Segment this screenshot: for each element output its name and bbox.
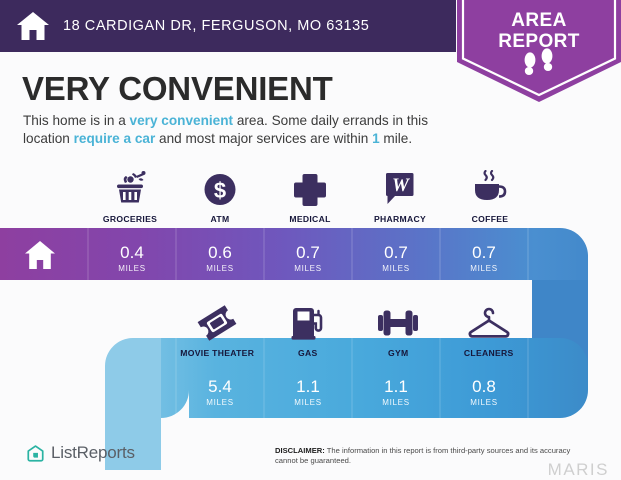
badge-line-2: REPORT: [498, 31, 580, 52]
dollar-circle-icon: $: [201, 166, 239, 208]
summary-text: This home is in a very convenient area. …: [23, 112, 448, 148]
summary-highlight-miles: 1: [372, 131, 380, 146]
home-marker-icon: [24, 240, 56, 270]
dumbbell-icon: [377, 300, 419, 342]
amenity-label: GYM: [388, 348, 408, 358]
page-title: VERY CONVENIENT: [22, 70, 333, 108]
badge-label: AREA REPORT: [457, 10, 621, 52]
amenity-label: PHARMACY: [374, 214, 426, 224]
summary-highlight-convenient: very convenient: [130, 113, 234, 128]
maris-watermark: MARIS: [548, 460, 609, 480]
amenity-label: GROCERIES: [103, 214, 157, 224]
amenity-gym: GYM: [353, 300, 444, 358]
disclaimer: DISCLAIMER: The information in this repo…: [275, 446, 587, 466]
amenity-label: COFFEE: [472, 214, 509, 224]
summary-part-3: and most major services are within: [155, 131, 372, 146]
coffee-cup-icon: [471, 166, 509, 208]
amenity-atm: $ ATM: [175, 166, 265, 224]
amenity-medical: MEDICAL: [265, 166, 355, 224]
summary-part-1: This home is in a: [23, 113, 130, 128]
amenity-label: ATM: [211, 214, 230, 224]
amenity-pharmacy: W PHARMACY: [355, 166, 445, 224]
gas-pump-icon: [289, 300, 327, 342]
header-bar: 18 CARDIGAN DR, FERGUSON, MO 63135: [0, 0, 456, 52]
amenity-coffee: COFFEE: [445, 166, 535, 224]
area-report-infographic: 18 CARDIGAN DR, FERGUSON, MO 63135 AREA …: [0, 0, 621, 480]
disclaimer-label: DISCLAIMER:: [275, 446, 325, 455]
amenity-movie-theater: MOVIE THEATER: [172, 300, 263, 358]
listreports-logo: ListReports: [26, 443, 135, 463]
amenity-icon-row-top: GROCERIES $ ATM MEDICAL: [85, 166, 535, 224]
pharmacy-w-icon: W: [381, 166, 419, 208]
summary-highlight-car: require a car: [74, 131, 156, 146]
amenity-label: MEDICAL: [289, 214, 330, 224]
svg-text:$: $: [214, 178, 226, 203]
summary-part-4: mile.: [380, 131, 412, 146]
svg-text:W: W: [392, 175, 410, 196]
amenity-label: MOVIE THEATER: [180, 348, 254, 358]
area-report-badge: AREA REPORT: [457, 0, 621, 102]
logo-text: ListReports: [51, 443, 135, 463]
clothes-hanger-icon: [467, 300, 511, 342]
movie-ticket-icon: [197, 300, 237, 342]
amenity-label: GAS: [298, 348, 318, 358]
badge-line-1: AREA: [511, 10, 566, 31]
amenity-gas: GAS: [263, 300, 354, 358]
distance-bar-top: [0, 228, 621, 280]
amenity-groceries: GROCERIES: [85, 166, 175, 224]
property-address: 18 CARDIGAN DR, FERGUSON, MO 63135: [63, 18, 369, 34]
listreports-house-icon: [26, 444, 45, 463]
amenity-label: CLEANERS: [464, 348, 514, 358]
home-icon: [16, 11, 50, 41]
amenity-cleaners: CLEANERS: [444, 300, 535, 358]
grocery-basket-icon: [111, 166, 149, 208]
amenity-icon-row-bottom: MOVIE THEATER GAS: [172, 300, 534, 358]
medical-cross-icon: [291, 166, 329, 208]
